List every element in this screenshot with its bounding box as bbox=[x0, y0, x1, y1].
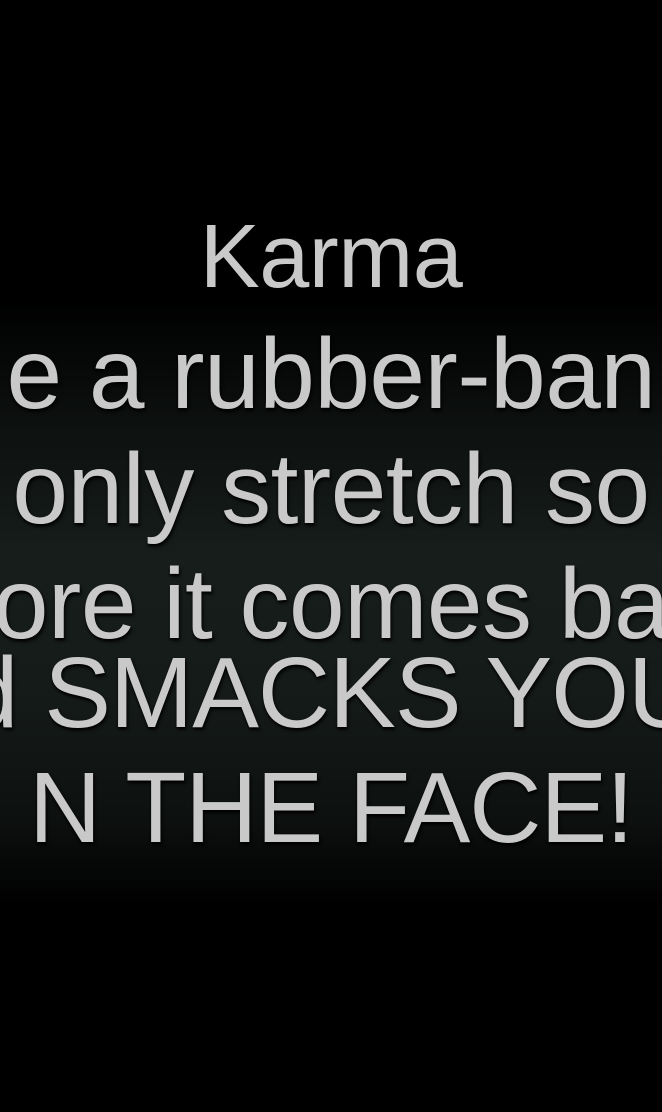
quote-line-6: N THE FACE! bbox=[29, 752, 633, 864]
quote-line-5: d SMACKS YOU bbox=[0, 637, 662, 749]
quote-title: Karma bbox=[0, 207, 662, 307]
meme-canvas: Karma e a rubber-ban only stretch so ore… bbox=[0, 0, 662, 1112]
quote-line-2: e a rubber-ban bbox=[6, 318, 655, 430]
quote-text-block: Karma e a rubber-ban only stretch so ore… bbox=[0, 0, 662, 1112]
quote-line-3: only stretch so bbox=[12, 433, 649, 545]
